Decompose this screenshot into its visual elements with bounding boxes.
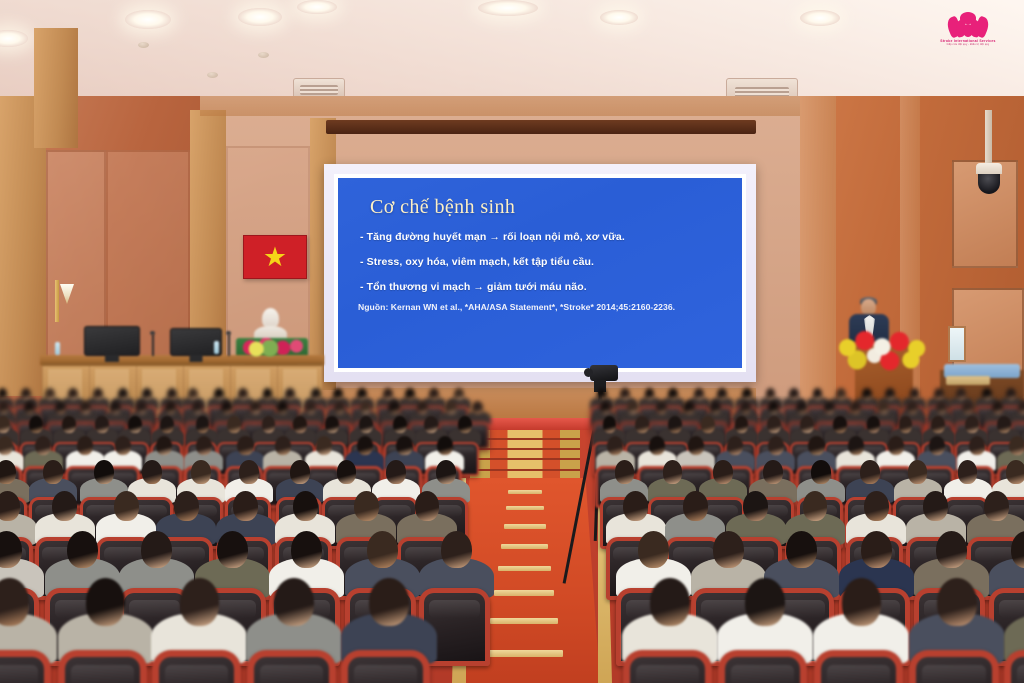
attendee-head <box>656 401 667 415</box>
attendee-head <box>811 460 831 484</box>
attendee-head <box>93 388 103 400</box>
attendee-head <box>237 436 253 456</box>
attendee-head <box>663 460 683 484</box>
dome-security-camera-icon <box>978 172 1000 194</box>
seat-highlight <box>731 665 794 683</box>
auditorium-seat <box>623 650 712 683</box>
auditorium-seat <box>909 650 998 683</box>
microphone-stem <box>152 334 154 356</box>
attendee-head <box>600 401 611 415</box>
carpet-rung <box>498 566 551 571</box>
attendee-head <box>997 416 1011 433</box>
attendee-head <box>415 491 440 521</box>
attendee-head <box>763 460 783 484</box>
wall-column-upper <box>34 28 78 148</box>
attendee-head <box>620 388 630 400</box>
attendee-head <box>333 388 343 400</box>
attendee-head <box>94 460 114 484</box>
auditorium-seat <box>341 650 430 683</box>
attendee-head <box>694 388 704 400</box>
attendee-head <box>0 401 9 415</box>
attendee-head <box>472 401 483 415</box>
attendee-head <box>965 416 979 433</box>
attendee-head <box>55 401 66 415</box>
attendee-head <box>615 460 635 484</box>
attendee-head <box>789 388 799 400</box>
carpet-rung <box>485 650 563 657</box>
auditorium-seat <box>58 650 147 683</box>
attendee-head <box>115 436 131 456</box>
attendee-head <box>29 416 43 433</box>
attendee-head <box>824 401 835 415</box>
attendee-head <box>936 401 947 415</box>
attendee-head <box>1006 460 1024 484</box>
logo: Stroke International Services Cấp cứu độ… <box>930 12 1006 54</box>
attendee-head <box>982 388 992 400</box>
attendee-head <box>311 388 321 400</box>
attendee-head <box>217 531 248 569</box>
attendee-head <box>867 416 881 433</box>
wall-band <box>200 96 800 116</box>
attendee-head <box>727 436 743 456</box>
slide-source-citation: Nguồn: Kernan WN et al., *AHA/ASA Statem… <box>358 302 726 312</box>
seat-highlight <box>922 665 985 683</box>
attendee-head <box>627 401 638 415</box>
attendee-head <box>214 388 224 400</box>
attendee-head <box>429 388 439 400</box>
attendee-head <box>274 578 314 626</box>
seat-highlight <box>999 600 1024 618</box>
attendee-head <box>277 401 288 415</box>
attendee-head <box>635 416 649 433</box>
attendee-head <box>813 388 823 400</box>
attendee-head <box>357 436 373 456</box>
attendee-head <box>842 578 882 626</box>
attendee-head <box>95 416 109 433</box>
downlight-icon <box>478 0 538 16</box>
attendee-head <box>180 578 220 626</box>
attendee-head <box>984 491 1009 521</box>
attendee-head <box>1018 401 1024 415</box>
video-camera-icon <box>590 365 618 381</box>
attendee-head <box>969 436 985 456</box>
attendee-head <box>796 401 807 415</box>
attendee-head <box>958 460 978 484</box>
attendee-head <box>337 460 357 484</box>
slide-bullet: - Stress, oxy hóa, viêm mạch, kết tập ti… <box>360 256 726 268</box>
carpet-rung <box>490 618 558 624</box>
attendee-head <box>910 388 920 400</box>
attendee-head <box>833 416 847 433</box>
attendee-head <box>745 578 785 626</box>
vietnam-flag: ★ <box>243 235 307 279</box>
carpet-rung <box>506 506 544 510</box>
attendee-head <box>142 388 152 400</box>
attendee-head <box>1009 436 1024 456</box>
seat-highlight <box>71 665 134 683</box>
attendee-head <box>174 491 199 521</box>
attendee-head <box>114 491 139 521</box>
podium-flower-arrangement <box>836 330 932 374</box>
attendee-head <box>743 491 768 521</box>
attendee-head <box>359 416 373 433</box>
attendee-head <box>68 388 78 400</box>
microphone-head <box>226 331 231 335</box>
attendee-head <box>688 436 704 456</box>
seat-highlight <box>260 665 323 683</box>
attendee-head <box>0 460 16 484</box>
screen-housing <box>326 120 756 134</box>
attendee-head <box>906 401 917 415</box>
attendee-head <box>454 388 464 400</box>
attendee-head <box>878 401 889 415</box>
attendee-head <box>136 401 147 415</box>
seat-highlight <box>1017 665 1024 683</box>
attendee-head <box>316 436 332 456</box>
smoke-detector-icon <box>258 52 269 58</box>
attendee-head <box>86 578 126 626</box>
attendee-head <box>767 416 781 433</box>
attendee-head <box>713 460 733 484</box>
attendee-head <box>740 401 751 415</box>
attendee-head <box>188 388 198 400</box>
seat-highlight <box>0 665 38 683</box>
attendee-head <box>192 401 203 415</box>
attendee-head <box>110 401 121 415</box>
attendee-head <box>239 460 259 484</box>
attendee-head <box>156 436 172 456</box>
attendee-head <box>458 416 472 433</box>
carpet-rung <box>494 590 554 596</box>
attendee-head <box>325 416 339 433</box>
attendee-head <box>285 388 295 400</box>
attendee-head <box>62 416 76 433</box>
attendee-head <box>899 416 913 433</box>
attendee-head <box>862 388 872 400</box>
water-bottle <box>55 342 60 355</box>
window <box>948 326 966 362</box>
attendee-head <box>956 388 966 400</box>
auditorium-seat <box>152 650 241 683</box>
attendee-head <box>929 436 945 456</box>
attendee-head <box>290 460 310 484</box>
seat-highlight <box>636 665 699 683</box>
attendee-head <box>786 531 817 569</box>
attendee-head <box>800 416 814 433</box>
attendee-head <box>962 401 973 415</box>
attendee-head <box>142 460 162 484</box>
attendee-head <box>43 460 63 484</box>
downlight-icon <box>800 10 840 26</box>
slide-title: Cơ chế bệnh sinh <box>370 196 726 219</box>
attendee-head <box>888 436 904 456</box>
attendee-head <box>683 401 694 415</box>
auditorium-seat <box>247 650 336 683</box>
projection-screen: Cơ chế bệnh sinh - Tăng đường huyết mạn … <box>324 164 756 382</box>
attendee-head <box>860 460 880 484</box>
attendee-head <box>597 388 607 400</box>
attendee-head <box>836 388 846 400</box>
seat-highlight <box>827 665 890 683</box>
attendee-head <box>908 460 928 484</box>
attendee-head <box>35 436 51 456</box>
attendee-head <box>369 578 409 626</box>
attendee-head <box>848 436 864 456</box>
attendee-head <box>141 531 172 569</box>
monitor <box>84 326 140 356</box>
microphone-stem <box>228 334 230 356</box>
seat-highlight <box>429 600 480 618</box>
attendee-head <box>357 388 367 400</box>
auditorium-seat <box>814 650 903 683</box>
attendee-head <box>396 436 412 456</box>
attendee-head <box>0 436 13 456</box>
seat-highlight <box>354 665 417 683</box>
attendee-head <box>768 436 784 456</box>
attendee-head <box>118 388 128 400</box>
attendee-head <box>645 388 655 400</box>
table-flowers <box>246 340 280 358</box>
attendee-head <box>607 436 623 456</box>
attendee-head <box>717 388 727 400</box>
attendee-head <box>937 578 977 626</box>
attendee-head <box>803 491 828 521</box>
carpet-rung <box>508 490 542 494</box>
carpet-rung <box>504 524 546 529</box>
attendee-head <box>768 401 779 415</box>
attendee-head <box>160 416 174 433</box>
downlight-icon <box>600 10 638 25</box>
attendee-head <box>227 416 241 433</box>
attendee-head <box>293 416 307 433</box>
attendee-head <box>405 388 415 400</box>
attendee-head <box>683 491 708 521</box>
logo-tagline: Cấp cứu đột quỵ - Điều trị đột quỵ <box>930 43 1006 46</box>
attendee-head <box>383 388 393 400</box>
attendee-head <box>77 436 93 456</box>
smoke-detector-icon <box>138 42 149 48</box>
downlight-icon <box>238 8 282 26</box>
attendee-head <box>1006 388 1016 400</box>
attendee-head <box>233 491 258 521</box>
auditorium-seat <box>718 650 807 683</box>
attendee-head <box>992 401 1003 415</box>
attendee-head <box>52 491 77 521</box>
attendee-head <box>367 531 398 569</box>
attendee-head <box>275 436 291 456</box>
attendee-head <box>668 416 682 433</box>
attendee-head <box>441 531 472 569</box>
attendee-head <box>638 531 669 569</box>
slide-bullet: - Tăng đường huyết mạn → rối loạn nội mô… <box>360 231 726 243</box>
attendee-head <box>238 388 248 400</box>
downlight-icon <box>125 10 171 29</box>
attendee-head <box>354 491 379 521</box>
attendee-head <box>735 416 749 433</box>
camera-mount <box>985 110 992 166</box>
flag-star-icon: ★ <box>263 244 287 271</box>
attendee-head <box>623 491 648 521</box>
attendee-head <box>360 401 371 415</box>
attendee-head <box>808 436 824 456</box>
attendee-head <box>861 531 892 569</box>
microphone-head <box>150 331 155 335</box>
attendee-head <box>437 436 453 456</box>
attendee-head <box>436 460 456 484</box>
attendee-head <box>21 388 31 400</box>
sconce-arm <box>55 280 59 322</box>
attendee-head <box>713 531 744 569</box>
attendee-head <box>424 416 438 433</box>
attendee-head <box>701 416 715 433</box>
attendee-head <box>291 531 322 569</box>
attendee-head <box>923 491 948 521</box>
water-bottle <box>214 341 219 354</box>
attendee-head <box>386 460 406 484</box>
attendee-head <box>196 416 210 433</box>
attendee-head <box>931 416 945 433</box>
carpet-rung <box>501 544 548 549</box>
attendee-head <box>650 578 690 626</box>
downlight-icon <box>297 0 337 14</box>
attendee-head <box>445 401 456 415</box>
attendee-head <box>45 388 55 400</box>
attendee-head <box>263 388 273 400</box>
attendee-head <box>649 436 665 456</box>
table-items <box>946 376 990 385</box>
conference-hall-photo: ★ Cơ chế bệnh sinh - Tăng đường huyết mạ… <box>0 0 1024 683</box>
smoke-detector-icon <box>207 72 218 78</box>
attendee-head <box>885 388 895 400</box>
attendee-head <box>417 401 428 415</box>
attendee-head <box>766 388 776 400</box>
attendee-head <box>603 416 617 433</box>
attendee-head <box>710 401 721 415</box>
attendee-head <box>864 491 889 521</box>
attendee-head <box>393 416 407 433</box>
attendee-head <box>191 460 211 484</box>
seat-highlight <box>129 600 180 618</box>
attendee-head <box>668 388 678 400</box>
attendee-head <box>305 401 316 415</box>
attendee-head <box>196 436 212 456</box>
seat-highlight <box>673 547 714 561</box>
attendee-head <box>293 491 318 521</box>
wall-strip <box>800 96 836 426</box>
attendee-head <box>0 416 10 433</box>
presentation-slide: Cơ chế bệnh sinh - Tăng đường huyết mạn … <box>338 178 742 368</box>
attendee-head <box>388 401 399 415</box>
attendee-head <box>936 531 967 569</box>
attendee-head <box>128 416 142 433</box>
attendee-head <box>262 416 276 433</box>
attendee-head <box>67 531 98 569</box>
attendee-head <box>742 388 752 400</box>
attendee-head <box>0 491 20 521</box>
logo-mark-icon <box>930 12 1006 38</box>
seat-highlight <box>165 665 228 683</box>
screen-surface: Cơ chế bệnh sinh - Tăng đường huyết mạn … <box>334 174 746 372</box>
auditorium-seat <box>0 650 51 683</box>
attendee-head <box>80 401 91 415</box>
attendee-head <box>250 401 261 415</box>
attendee-head <box>167 388 177 400</box>
attendee-head <box>934 388 944 400</box>
slide-bullet: - Tổn thương vi mạch → giảm tưới máu não… <box>360 281 726 293</box>
attendee-head <box>165 401 176 415</box>
